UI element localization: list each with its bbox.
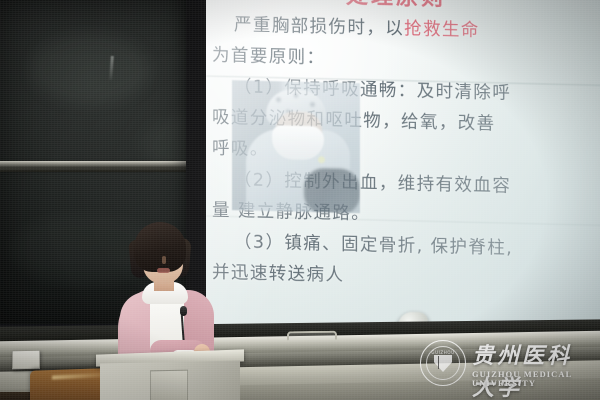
surgery-photo xyxy=(232,80,360,213)
lectern-panel xyxy=(150,370,188,400)
blackboard-rail-shadow xyxy=(0,168,206,172)
lecture-photo: 处理原则 严重胸部损伤时，以抢救生命 为首要原则： （1）保持呼吸通畅：及时清除… xyxy=(0,0,600,400)
projection-screen-frame: 处理原则 严重胸部损伤时，以抢救生命 为首要原则： （1）保持呼吸通畅：及时清除… xyxy=(186,0,600,343)
surgical-mask xyxy=(272,125,324,160)
presentation-slide: 处理原则 严重胸部损伤时，以抢救生命 为首要原则： （1）保持呼吸通畅：及时清除… xyxy=(206,0,600,337)
board-eraser xyxy=(12,350,40,369)
slide-line-1-plain: 严重胸部损伤时，以 xyxy=(234,15,404,39)
slide-line-1-highlight: 抢救生命 xyxy=(404,19,480,41)
ledge-handle xyxy=(287,331,337,341)
hair xyxy=(134,222,186,272)
clip-on-microphone xyxy=(180,306,187,316)
projection-screen: 处理原则 严重胸部损伤时，以抢救生命 为首要原则： （1）保持呼吸通畅：及时清除… xyxy=(206,0,600,337)
slide-title: 处理原则 xyxy=(346,0,446,12)
blackboard-rail xyxy=(0,161,206,168)
